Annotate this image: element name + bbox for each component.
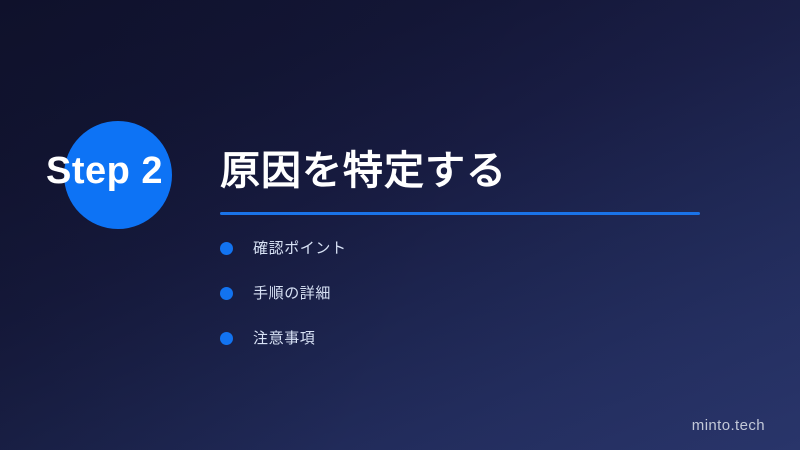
slide-content: Step 2 原因を特定する 確認ポイント 手順の詳細 注意事項 minto.t… xyxy=(0,0,800,450)
list-item-label: 注意事項 xyxy=(253,331,315,346)
bullet-dot-icon xyxy=(220,242,233,255)
list-item: 注意事項 xyxy=(220,331,347,346)
bullet-list: 確認ポイント 手順の詳細 注意事項 xyxy=(220,241,347,346)
bullet-dot-icon xyxy=(220,287,233,300)
list-item: 確認ポイント xyxy=(220,241,347,256)
footer-brand: minto.tech xyxy=(692,418,765,433)
list-item-label: 確認ポイント xyxy=(253,241,347,256)
list-item: 手順の詳細 xyxy=(220,286,347,301)
bullet-dot-icon xyxy=(220,332,233,345)
step-badge-label: Step 2 xyxy=(46,152,163,190)
list-item-label: 手順の詳細 xyxy=(253,286,331,301)
presentation-slide: Step 2 原因を特定する 確認ポイント 手順の詳細 注意事項 minto.t… xyxy=(0,0,800,450)
slide-title: 原因を特定する xyxy=(220,148,507,194)
title-divider xyxy=(220,212,700,215)
